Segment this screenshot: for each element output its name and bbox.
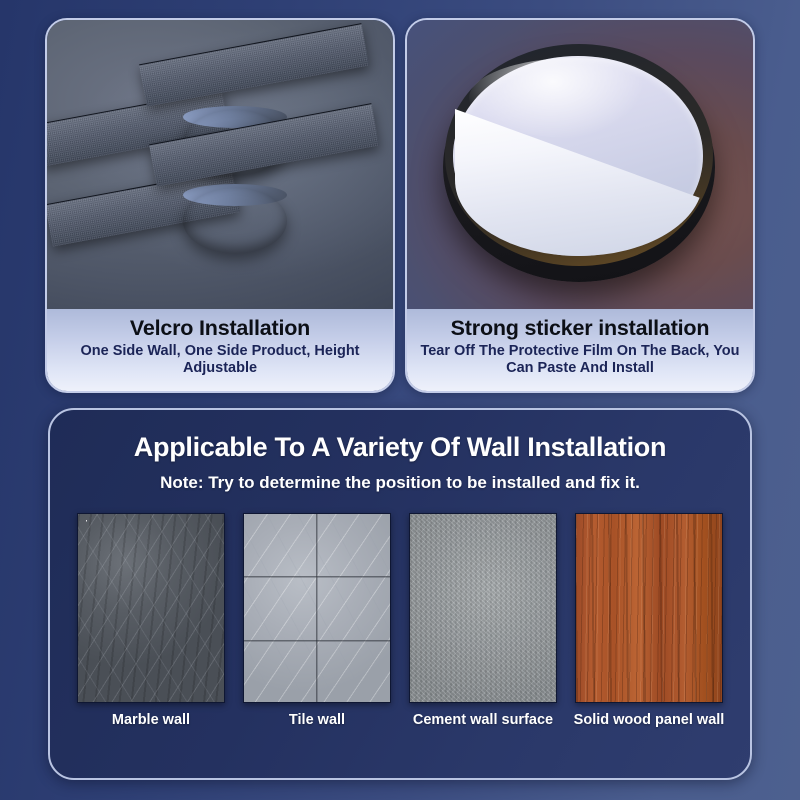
card-title-sticker: Strong sticker installation (417, 316, 743, 340)
adhesive-disc-photo (407, 20, 753, 309)
cement-wall-image (409, 513, 557, 703)
wall-swatch-marble[interactable]: Marble wall (72, 513, 230, 729)
velcro-strips-photo (47, 20, 393, 309)
velcro-curl-lower (183, 188, 287, 254)
card-velcro-installation[interactable]: Velcro Installation One Side Wall, One S… (45, 18, 395, 393)
panel-note: Note: Try to determine the position to b… (66, 473, 734, 493)
wall-swatch-label: Solid wood panel wall (574, 712, 725, 729)
card-sticker-installation[interactable]: Strong sticker installation Tear Off The… (405, 18, 755, 393)
card-caption-sticker: Strong sticker installation Tear Off The… (407, 309, 753, 391)
tile-wall-image (243, 513, 391, 703)
installation-methods-row: Velcro Installation One Side Wall, One S… (45, 18, 755, 393)
wall-swatch-label: Cement wall surface (413, 712, 553, 729)
wall-swatch-wood[interactable]: Solid wood panel wall (570, 513, 728, 729)
wood-panel-wall-image (575, 513, 723, 703)
panel-title: Applicable To A Variety Of Wall Installa… (66, 432, 734, 463)
wall-swatch-label: Tile wall (289, 712, 345, 729)
wall-types-panel: Applicable To A Variety Of Wall Installa… (48, 408, 752, 780)
wall-swatch-row: Marble wall Tile wall Cement wall surfac… (66, 513, 734, 729)
adhesive-disc (443, 52, 715, 282)
card-subtitle-sticker: Tear Off The Protective Film On The Back… (417, 343, 743, 377)
card-title-velcro: Velcro Installation (57, 316, 383, 340)
wall-swatch-label: Marble wall (112, 712, 190, 729)
wall-swatch-tile[interactable]: Tile wall (238, 513, 396, 729)
card-caption-velcro: Velcro Installation One Side Wall, One S… (47, 309, 393, 391)
wall-swatch-cement[interactable]: Cement wall surface (404, 513, 562, 729)
marble-wall-image (77, 513, 225, 703)
card-subtitle-velcro: One Side Wall, One Side Product, Height … (57, 343, 383, 377)
